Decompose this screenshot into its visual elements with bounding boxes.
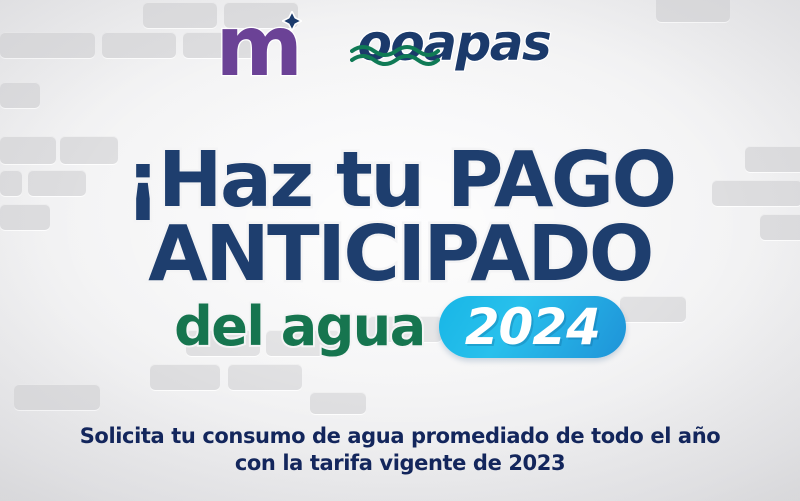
year-badge: 2024 (439, 296, 626, 358)
headline-line-3: del agua 2024 (0, 296, 800, 358)
subtitle-line-1: Solicita tu consumo de agua promediado d… (0, 423, 800, 450)
headline-block: ¡Haz tu PAGO ANTICIPADO del agua 2024 (0, 145, 800, 358)
headline-line-1: ¡Haz tu PAGO (0, 145, 800, 217)
diamond-sparkle-icon (282, 11, 302, 31)
year-badge-label: 2024 (465, 302, 600, 352)
background-brick (228, 364, 302, 390)
background-brick (310, 392, 366, 414)
headline-line-2: ANTICIPADO (0, 219, 800, 291)
water-waves-icon (350, 43, 440, 69)
municipality-logo: m (216, 9, 302, 83)
logo-row: m ooapas (0, 6, 800, 86)
subtitle-line-2: con la tarifa vigente de 2023 (0, 450, 800, 477)
background-brick (150, 364, 220, 390)
utility-logo: ooapas (350, 13, 585, 79)
subtitle-block: Solicita tu consumo de agua promediado d… (0, 423, 800, 477)
headline-subject-text: del agua (174, 300, 425, 354)
background-brick (14, 384, 100, 410)
promotional-banner: m ooapas ¡Haz tu PAGO ANTICIPADO (0, 0, 800, 501)
